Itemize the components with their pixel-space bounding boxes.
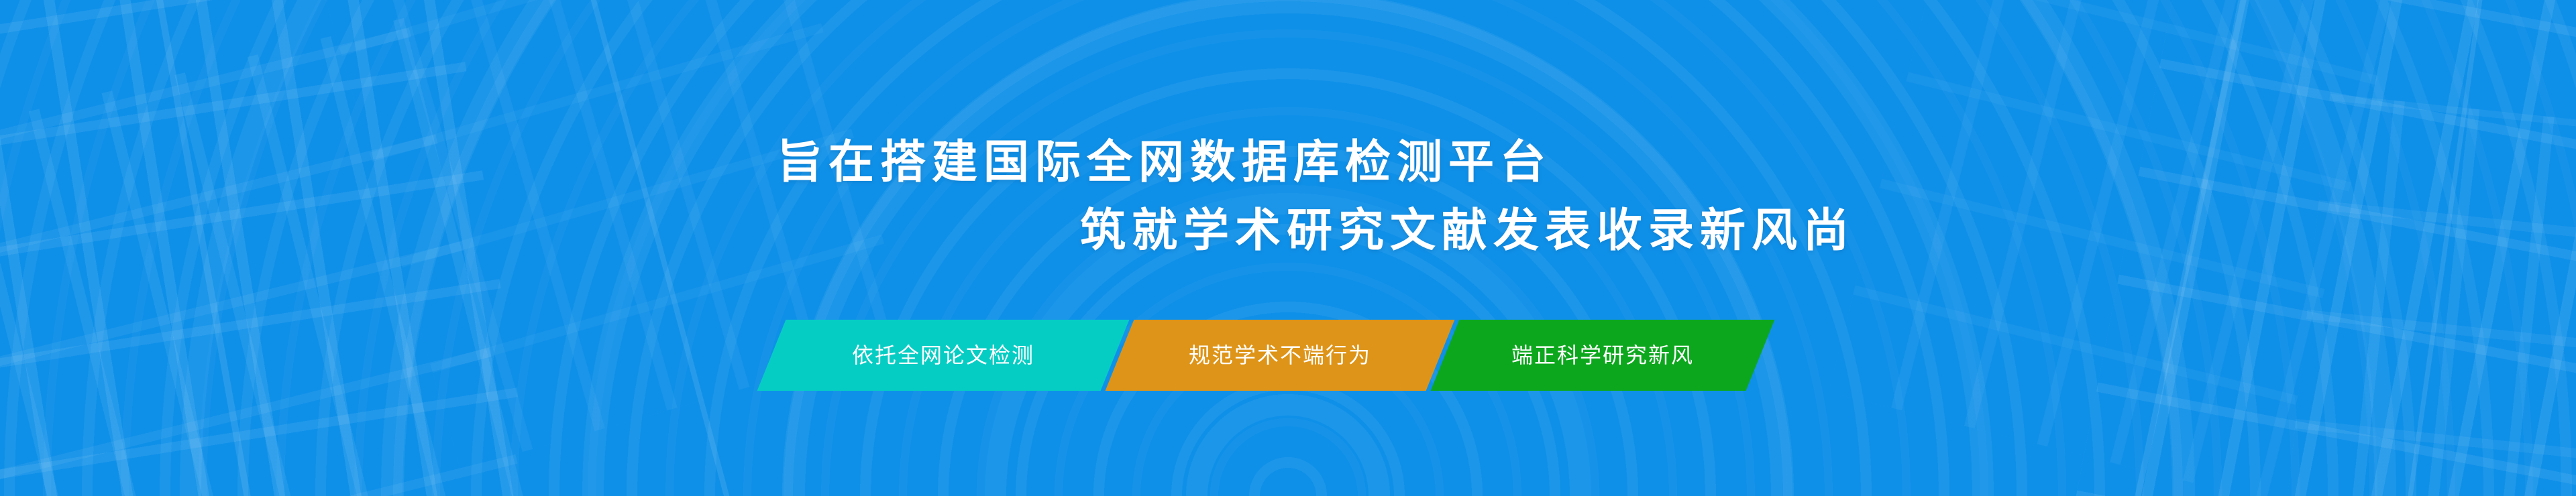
- feature-badge-label: 规范学术不端行为: [1166, 345, 1394, 366]
- feature-badge-label: 端正科学研究新风: [1489, 345, 1717, 366]
- promo-banner: 旨在搭建国际全网数据库检测平台 筑就学术研究文献发表收录新风尚 依托全网论文检测…: [0, 0, 2576, 496]
- feature-badge-quanwang-detection[interactable]: 依托全网论文检测: [757, 320, 1130, 391]
- feature-badge-strip: 依托全网论文检测 规范学术不端行为 端正科学研究新风: [771, 320, 1760, 391]
- headline-line-2: 筑就学术研究文献发表收录新风尚: [1080, 208, 1855, 253]
- headline-line-1: 旨在搭建国际全网数据库检测平台: [777, 139, 1552, 185]
- feature-badge-academic-misconduct[interactable]: 规范学术不端行为: [1106, 320, 1455, 391]
- feature-badge-research-ethos[interactable]: 端正科学研究新风: [1431, 320, 1775, 391]
- feature-badge-label: 依托全网论文检测: [829, 345, 1057, 366]
